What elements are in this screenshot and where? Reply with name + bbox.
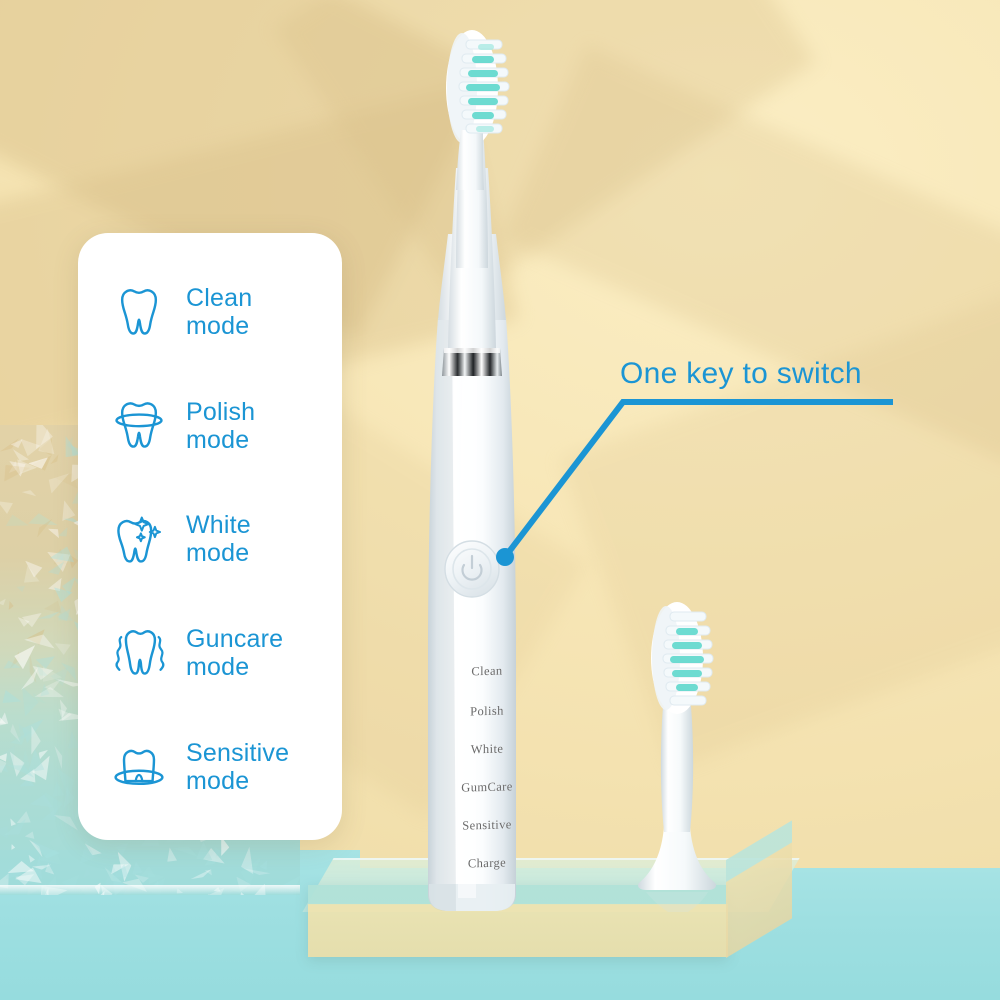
- handle-label-polish: Polish: [447, 703, 527, 720]
- tooth-ring-icon: [108, 395, 170, 457]
- mode-row-white[interactable]: White mode: [94, 508, 326, 570]
- mode-row-clean[interactable]: Clean mode: [94, 281, 326, 343]
- product-scene: Clean Polish White GumCare Sensitive Cha…: [0, 0, 1000, 1000]
- mode-feature-card: Clean mode Polish mode White mode: [78, 233, 342, 840]
- mode-label-guncare: Guncare mode: [186, 625, 283, 681]
- power-button[interactable]: [445, 541, 499, 597]
- handle-label-charge: Charge: [447, 855, 527, 872]
- tooth-plain-icon: [108, 281, 170, 343]
- spare-head-reflection: [646, 892, 708, 912]
- spare-head-bristles: [663, 612, 713, 705]
- handle-label-gumcare: GumCare: [447, 779, 527, 796]
- mode-row-guncare[interactable]: Guncare mode: [94, 622, 326, 684]
- spare-head-stem: [661, 706, 693, 832]
- tooth-gum-icon: [108, 736, 170, 798]
- mode-row-polish[interactable]: Polish mode: [94, 395, 326, 457]
- tooth-waves-icon: [108, 622, 170, 684]
- mode-row-sensitive[interactable]: Sensitive mode: [94, 736, 326, 798]
- callout-label: One key to switch: [620, 357, 862, 391]
- brush-bristles: [459, 40, 509, 133]
- handle-label-white: White: [447, 741, 527, 758]
- mode-label-white: White mode: [186, 511, 251, 567]
- spare-head-base: [638, 826, 716, 890]
- mode-label-sensitive: Sensitive mode: [186, 739, 289, 795]
- spare-brush-head: [602, 596, 752, 912]
- handle-label-sensitive: Sensitive: [447, 817, 527, 834]
- mode-label-clean: Clean mode: [186, 284, 252, 340]
- tooth-sparkle-icon: [108, 508, 170, 570]
- mode-label-polish: Polish mode: [186, 398, 255, 454]
- handle-label-clean: Clean: [447, 663, 527, 680]
- glass-top-edge: [0, 885, 300, 895]
